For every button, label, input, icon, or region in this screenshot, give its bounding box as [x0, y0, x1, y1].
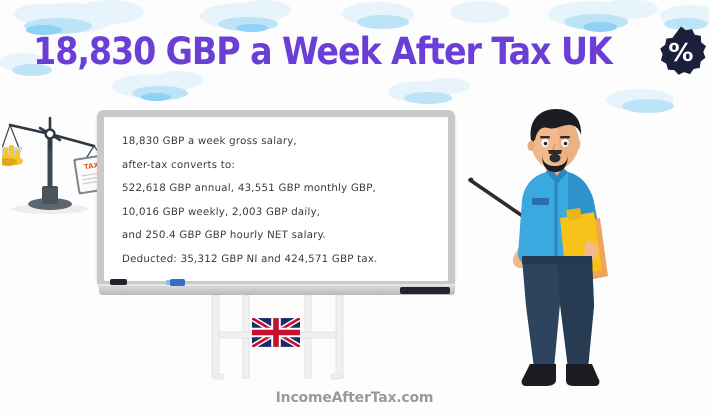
- site-logo[interactable]: IncomeAfterTax.com: [0, 390, 709, 406]
- board-line: after-tax converts to:: [122, 154, 437, 178]
- head: [528, 109, 582, 172]
- board-line: 18,830 GBP a week gross salary,: [122, 130, 437, 154]
- board-line: Deducted: 35,312 GBP NI and 424,571 GBP …: [122, 248, 437, 272]
- board-line: 10,016 GBP weekly, 2,003 GBP daily,: [122, 201, 437, 225]
- uk-flag: [252, 318, 300, 347]
- blue-marker-icon: [170, 279, 185, 286]
- tray-dark-strip: [400, 287, 450, 294]
- eraser-icon: [110, 279, 127, 285]
- teacher-character: [468, 106, 644, 394]
- whiteboard-text: 18,830 GBP a week gross salary, after-ta…: [122, 130, 436, 271]
- board-line: and 250.4 GBP GBP hourly NET salary.: [122, 224, 437, 248]
- infographic-canvas: 18,830 GBP a Week After Tax UK %: [0, 0, 709, 419]
- whiteboard: 18,830 GBP a week gross salary, after-ta…: [97, 110, 455, 288]
- whiteboard-surface: 18,830 GBP a week gross salary, after-ta…: [104, 117, 448, 281]
- board-line: 522,618 GBP annual, 43,551 GBP monthly G…: [122, 177, 437, 201]
